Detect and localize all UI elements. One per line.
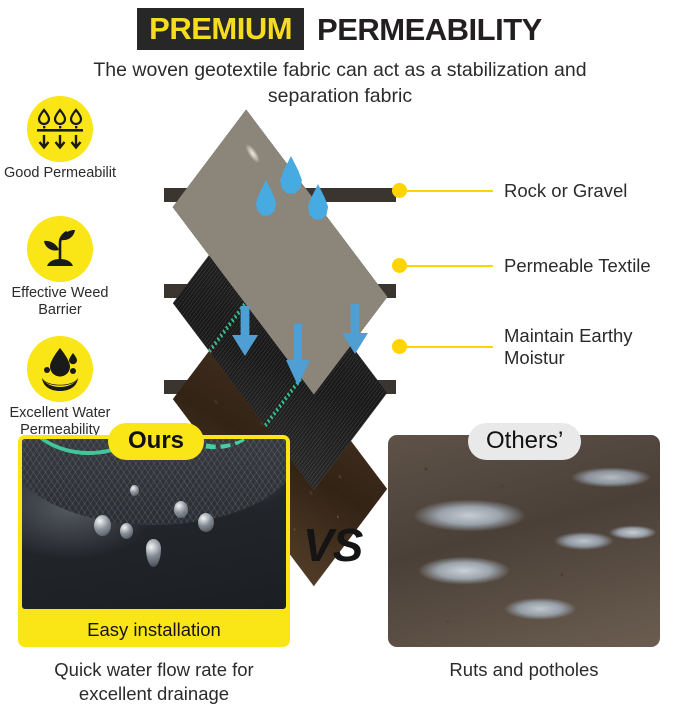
water-bead — [198, 513, 214, 532]
feature-item-permeability: Good Permeabilit — [0, 96, 120, 182]
caption-others: Ruts and potholes — [388, 658, 660, 682]
callout-label: Permeable Textile — [504, 255, 651, 277]
badge-others: Others’ — [468, 423, 581, 460]
feature-item-weed-barrier: Effective Weed Barrier — [0, 216, 120, 319]
callout-line — [407, 265, 493, 268]
callout-maintain-earthy-moisture: Maintain Earthy Moistur — [392, 325, 633, 369]
callout-dot-icon — [392, 258, 407, 273]
headline-text: PERMEABILITY — [304, 14, 542, 45]
page-title: PREMIUM PERMEABILITY — [0, 6, 679, 52]
callout-dot-icon — [392, 183, 407, 198]
feature-item-water-permeability: Excellent Water Permeability — [0, 336, 120, 439]
water-bead — [146, 539, 161, 567]
sprout-weed-barrier-icon — [27, 216, 93, 282]
comparison-panel-ours: Easy installation — [18, 435, 290, 647]
premium-badge: PREMIUM — [137, 8, 304, 50]
water-drop-icon — [27, 336, 93, 402]
water-bead — [120, 523, 133, 539]
badge-ours: Ours — [108, 423, 204, 460]
callout-rock-or-gravel: Rock or Gravel — [392, 180, 627, 202]
vs-label: VS — [303, 518, 362, 572]
water-permeability-icon — [27, 96, 93, 162]
subtitle-text: The woven geotextile fabric can act as a… — [60, 58, 620, 109]
caption-ours: Quick water flow rate for excellent drai… — [18, 658, 290, 707]
comparison-panel-others — [388, 435, 660, 647]
feature-label: Good Permeabilit — [0, 165, 120, 182]
callout-label: Rock or Gravel — [504, 180, 627, 202]
callout-permeable-textile: Permeable Textile — [392, 255, 651, 277]
callout-line — [407, 346, 493, 349]
water-bead — [94, 515, 111, 536]
ours-photo — [22, 439, 286, 609]
water-bead — [174, 501, 188, 518]
callout-dot-icon — [392, 339, 407, 354]
feature-label: Effective Weed Barrier — [0, 285, 120, 319]
callout-line — [407, 190, 493, 193]
callout-label: Maintain Earthy Moistur — [504, 325, 633, 369]
water-bead — [130, 485, 139, 496]
ours-photo-caption: Easy installation — [22, 613, 286, 647]
